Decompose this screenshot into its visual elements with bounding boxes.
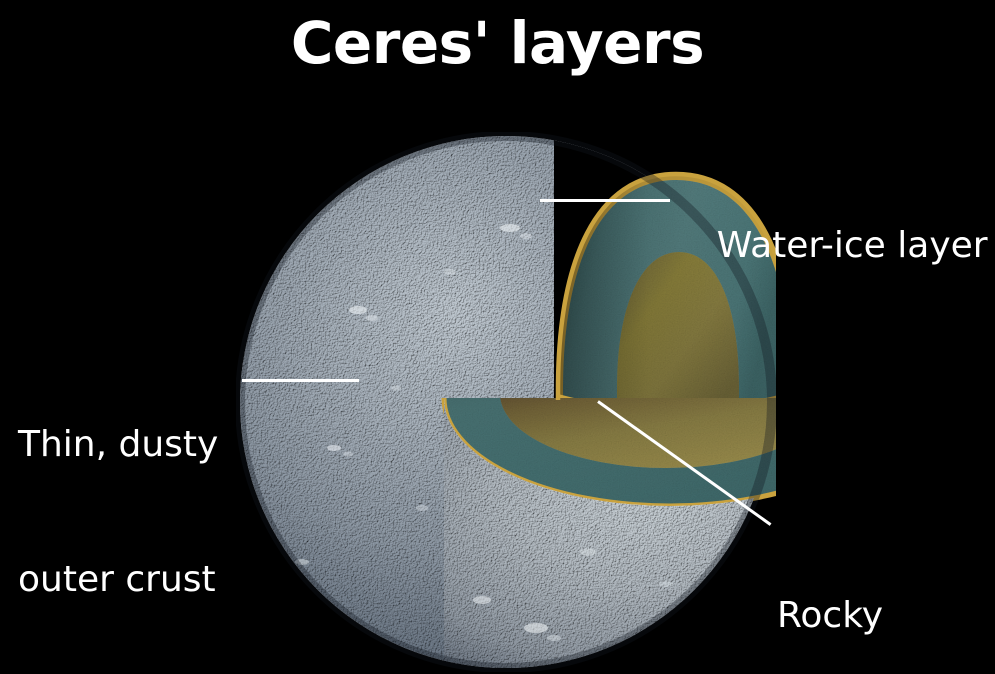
label-outer-crust-line1: Thin, dusty	[18, 422, 218, 467]
leader-line-outer-crust	[242, 379, 359, 382]
label-water-ice-layer-text: Water-ice layer	[717, 225, 988, 266]
page-title: Ceres' layers	[0, 8, 995, 78]
diagram-canvas: Ceres' layers	[0, 0, 995, 674]
label-water-ice-layer: Water-ice layer	[671, 178, 988, 313]
label-outer-crust-line2: outer crust	[18, 557, 218, 602]
leader-line-water-ice	[540, 199, 670, 202]
label-rocky-core: Rocky inner core	[777, 503, 959, 674]
label-rocky-core-line1: Rocky	[777, 593, 959, 638]
label-outer-crust: Thin, dusty outer crust	[18, 332, 218, 674]
